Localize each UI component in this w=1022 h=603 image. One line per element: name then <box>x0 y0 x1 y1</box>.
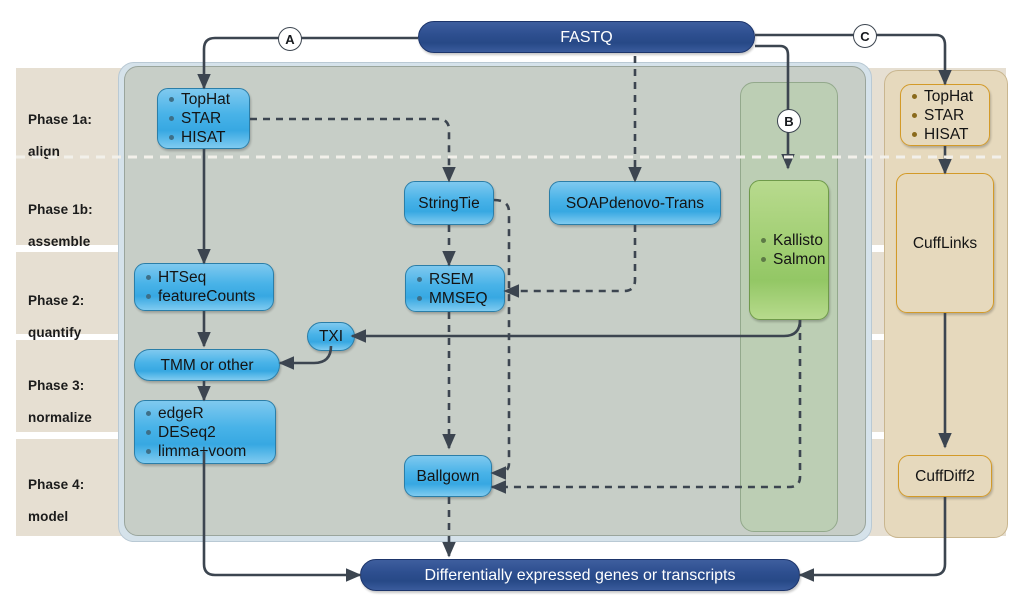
marker-b-label: B <box>784 114 793 129</box>
rsem-item-1: MMSEQ <box>416 289 504 308</box>
phase-1a-subtitle: align <box>28 144 60 159</box>
models-item-2: limma+voom <box>145 442 275 461</box>
node-tmm-label: TMM or other <box>160 356 253 375</box>
phase-label-2: Phase 2: quantify <box>28 277 84 341</box>
pseudoaligners-item-1: Salmon <box>760 250 828 269</box>
node-fastq[interactable]: FASTQ <box>418 21 755 53</box>
marker-a-label: A <box>285 32 294 47</box>
rsem-item-0: RSEM <box>416 270 504 289</box>
phase-4-subtitle: model <box>28 509 68 524</box>
aligners-left-item-0: TopHat <box>168 90 249 109</box>
marker-a: A <box>278 27 302 51</box>
aligners-right-item-0: TopHat <box>911 87 989 106</box>
phase-3-title: Phase 3: <box>28 378 84 393</box>
node-txi[interactable]: TXI <box>307 322 355 351</box>
phase-1a-title: Phase 1a: <box>28 112 92 127</box>
marker-b: B <box>777 109 801 133</box>
node-models[interactable]: edgeR DESeq2 limma+voom <box>134 400 276 464</box>
aligners-right-item-1: STAR <box>911 106 989 125</box>
node-cufflinks-label: CuffLinks <box>913 234 977 253</box>
models-item-0: edgeR <box>145 404 275 423</box>
phase-3-subtitle: normalize <box>28 410 92 425</box>
phase-2-subtitle: quantify <box>28 325 81 340</box>
aligners-left-item-1: STAR <box>168 109 249 128</box>
node-htseq-featurecounts[interactable]: HTSeq featureCounts <box>134 263 274 311</box>
phase-1b-subtitle: assemble <box>28 234 90 249</box>
node-tmm[interactable]: TMM or other <box>134 349 280 381</box>
node-aligners-right[interactable]: TopHat STAR HISAT <box>900 84 990 146</box>
node-cuffdiff2-label: CuffDiff2 <box>915 467 975 486</box>
node-cufflinks[interactable]: CuffLinks <box>896 173 994 313</box>
htseq-item-0: HTSeq <box>145 268 273 287</box>
phase-label-3: Phase 3: normalize <box>28 362 92 426</box>
node-aligners-left[interactable]: TopHat STAR HISAT <box>157 88 250 149</box>
node-soapdenovo-trans[interactable]: SOAPdenovo-Trans <box>549 181 721 225</box>
phase-label-1a: Phase 1a: align <box>28 96 92 160</box>
phase-2-title: Phase 2: <box>28 293 84 308</box>
node-soapdenovo-label: SOAPdenovo-Trans <box>566 194 704 213</box>
node-fastq-label: FASTQ <box>560 28 612 47</box>
marker-c-label: C <box>860 29 869 44</box>
phase-label-1b: Phase 1b: assemble <box>28 186 93 250</box>
models-item-1: DESeq2 <box>145 423 275 442</box>
node-pseudoaligners[interactable]: Kallisto Salmon <box>749 180 829 320</box>
node-output[interactable]: Differentially expressed genes or transc… <box>360 559 800 591</box>
node-ballgown-label: Ballgown <box>417 467 480 486</box>
aligners-right-item-2: HISAT <box>911 125 989 144</box>
node-ballgown[interactable]: Ballgown <box>404 455 492 497</box>
diagram-canvas: Phase 1a: align Phase 1b: assemble Phase… <box>0 0 1022 603</box>
node-cuffdiff2[interactable]: CuffDiff2 <box>898 455 992 497</box>
htseq-item-1: featureCounts <box>145 287 273 306</box>
node-rsem-mmseq[interactable]: RSEM MMSEQ <box>405 265 505 312</box>
node-output-label: Differentially expressed genes or transc… <box>425 566 736 585</box>
node-stringtie[interactable]: StringTie <box>404 181 494 225</box>
phase-label-4: Phase 4: model <box>28 461 84 525</box>
node-txi-label: TXI <box>319 327 343 346</box>
phase-4-title: Phase 4: <box>28 477 84 492</box>
pseudoaligners-item-0: Kallisto <box>760 231 828 250</box>
phase-1b-title: Phase 1b: <box>28 202 93 217</box>
aligners-left-item-2: HISAT <box>168 128 249 147</box>
marker-c: C <box>853 24 877 48</box>
node-stringtie-label: StringTie <box>418 194 479 213</box>
